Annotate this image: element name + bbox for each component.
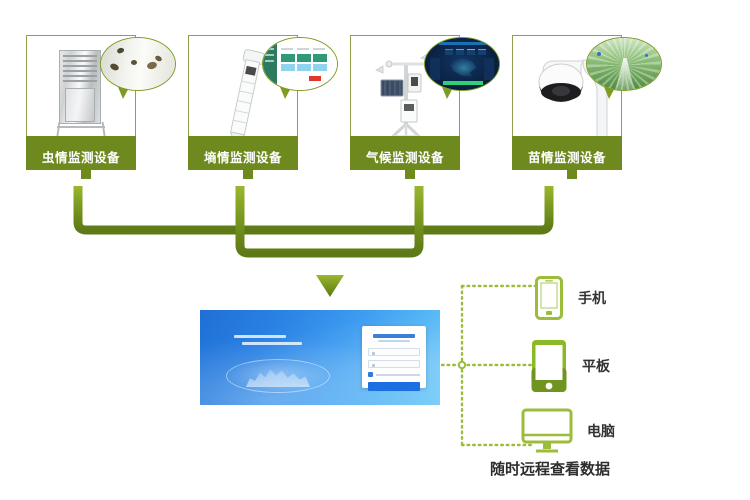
flow-arrow-head (316, 275, 344, 297)
device-label-text: 苗情监测设备 (512, 147, 622, 166)
bubble-greenhouse (586, 37, 662, 91)
device-label-band: 苗情监测设备 (512, 136, 622, 170)
terminal-computer[interactable]: 电脑 (521, 408, 615, 454)
device-label-text: 气候监测设备 (350, 147, 460, 166)
username-input[interactable] (368, 348, 420, 356)
mobile-phone-icon (534, 275, 564, 321)
platform-login-screen[interactable] (200, 310, 440, 405)
terminal-label-tablet: 平板 (582, 356, 610, 376)
terminal-tablet[interactable]: 平板 (530, 338, 610, 394)
bubble-data-table (262, 37, 338, 91)
hub-node (459, 362, 465, 368)
device-label-band: 虫情监测设备 (26, 136, 136, 170)
terminal-phone[interactable]: 手机 (534, 275, 606, 321)
terminal-label-computer: 电脑 (587, 421, 615, 441)
diagram-canvas: 虫情监测设备 (0, 0, 750, 500)
device-label-band: 气候监测设备 (350, 136, 460, 170)
screen-heading-text (234, 335, 304, 349)
login-title (373, 334, 415, 338)
card-stub-2 (243, 170, 253, 179)
device-label-text: 墒情监测设备 (188, 147, 298, 166)
login-subtitle (378, 340, 410, 342)
login-card[interactable] (362, 326, 426, 388)
bubble-insects-tray (100, 37, 176, 91)
device-label-band: 墒情监测设备 (188, 136, 298, 170)
tablet-icon (530, 338, 568, 394)
desktop-monitor-icon (521, 408, 573, 454)
card-stub-1 (81, 170, 91, 179)
card-stub-3 (405, 170, 415, 179)
remember-password-checkbox[interactable] (368, 372, 420, 377)
terminal-label-phone: 手机 (578, 288, 606, 308)
card-stub-4 (567, 170, 577, 179)
device-label-text: 虫情监测设备 (26, 147, 136, 166)
remote-access-caption: 随时远程查看数据 (490, 458, 610, 479)
login-submit-button[interactable] (368, 382, 420, 391)
password-input[interactable] (368, 360, 420, 368)
bubble-dashboard-map (424, 37, 500, 91)
